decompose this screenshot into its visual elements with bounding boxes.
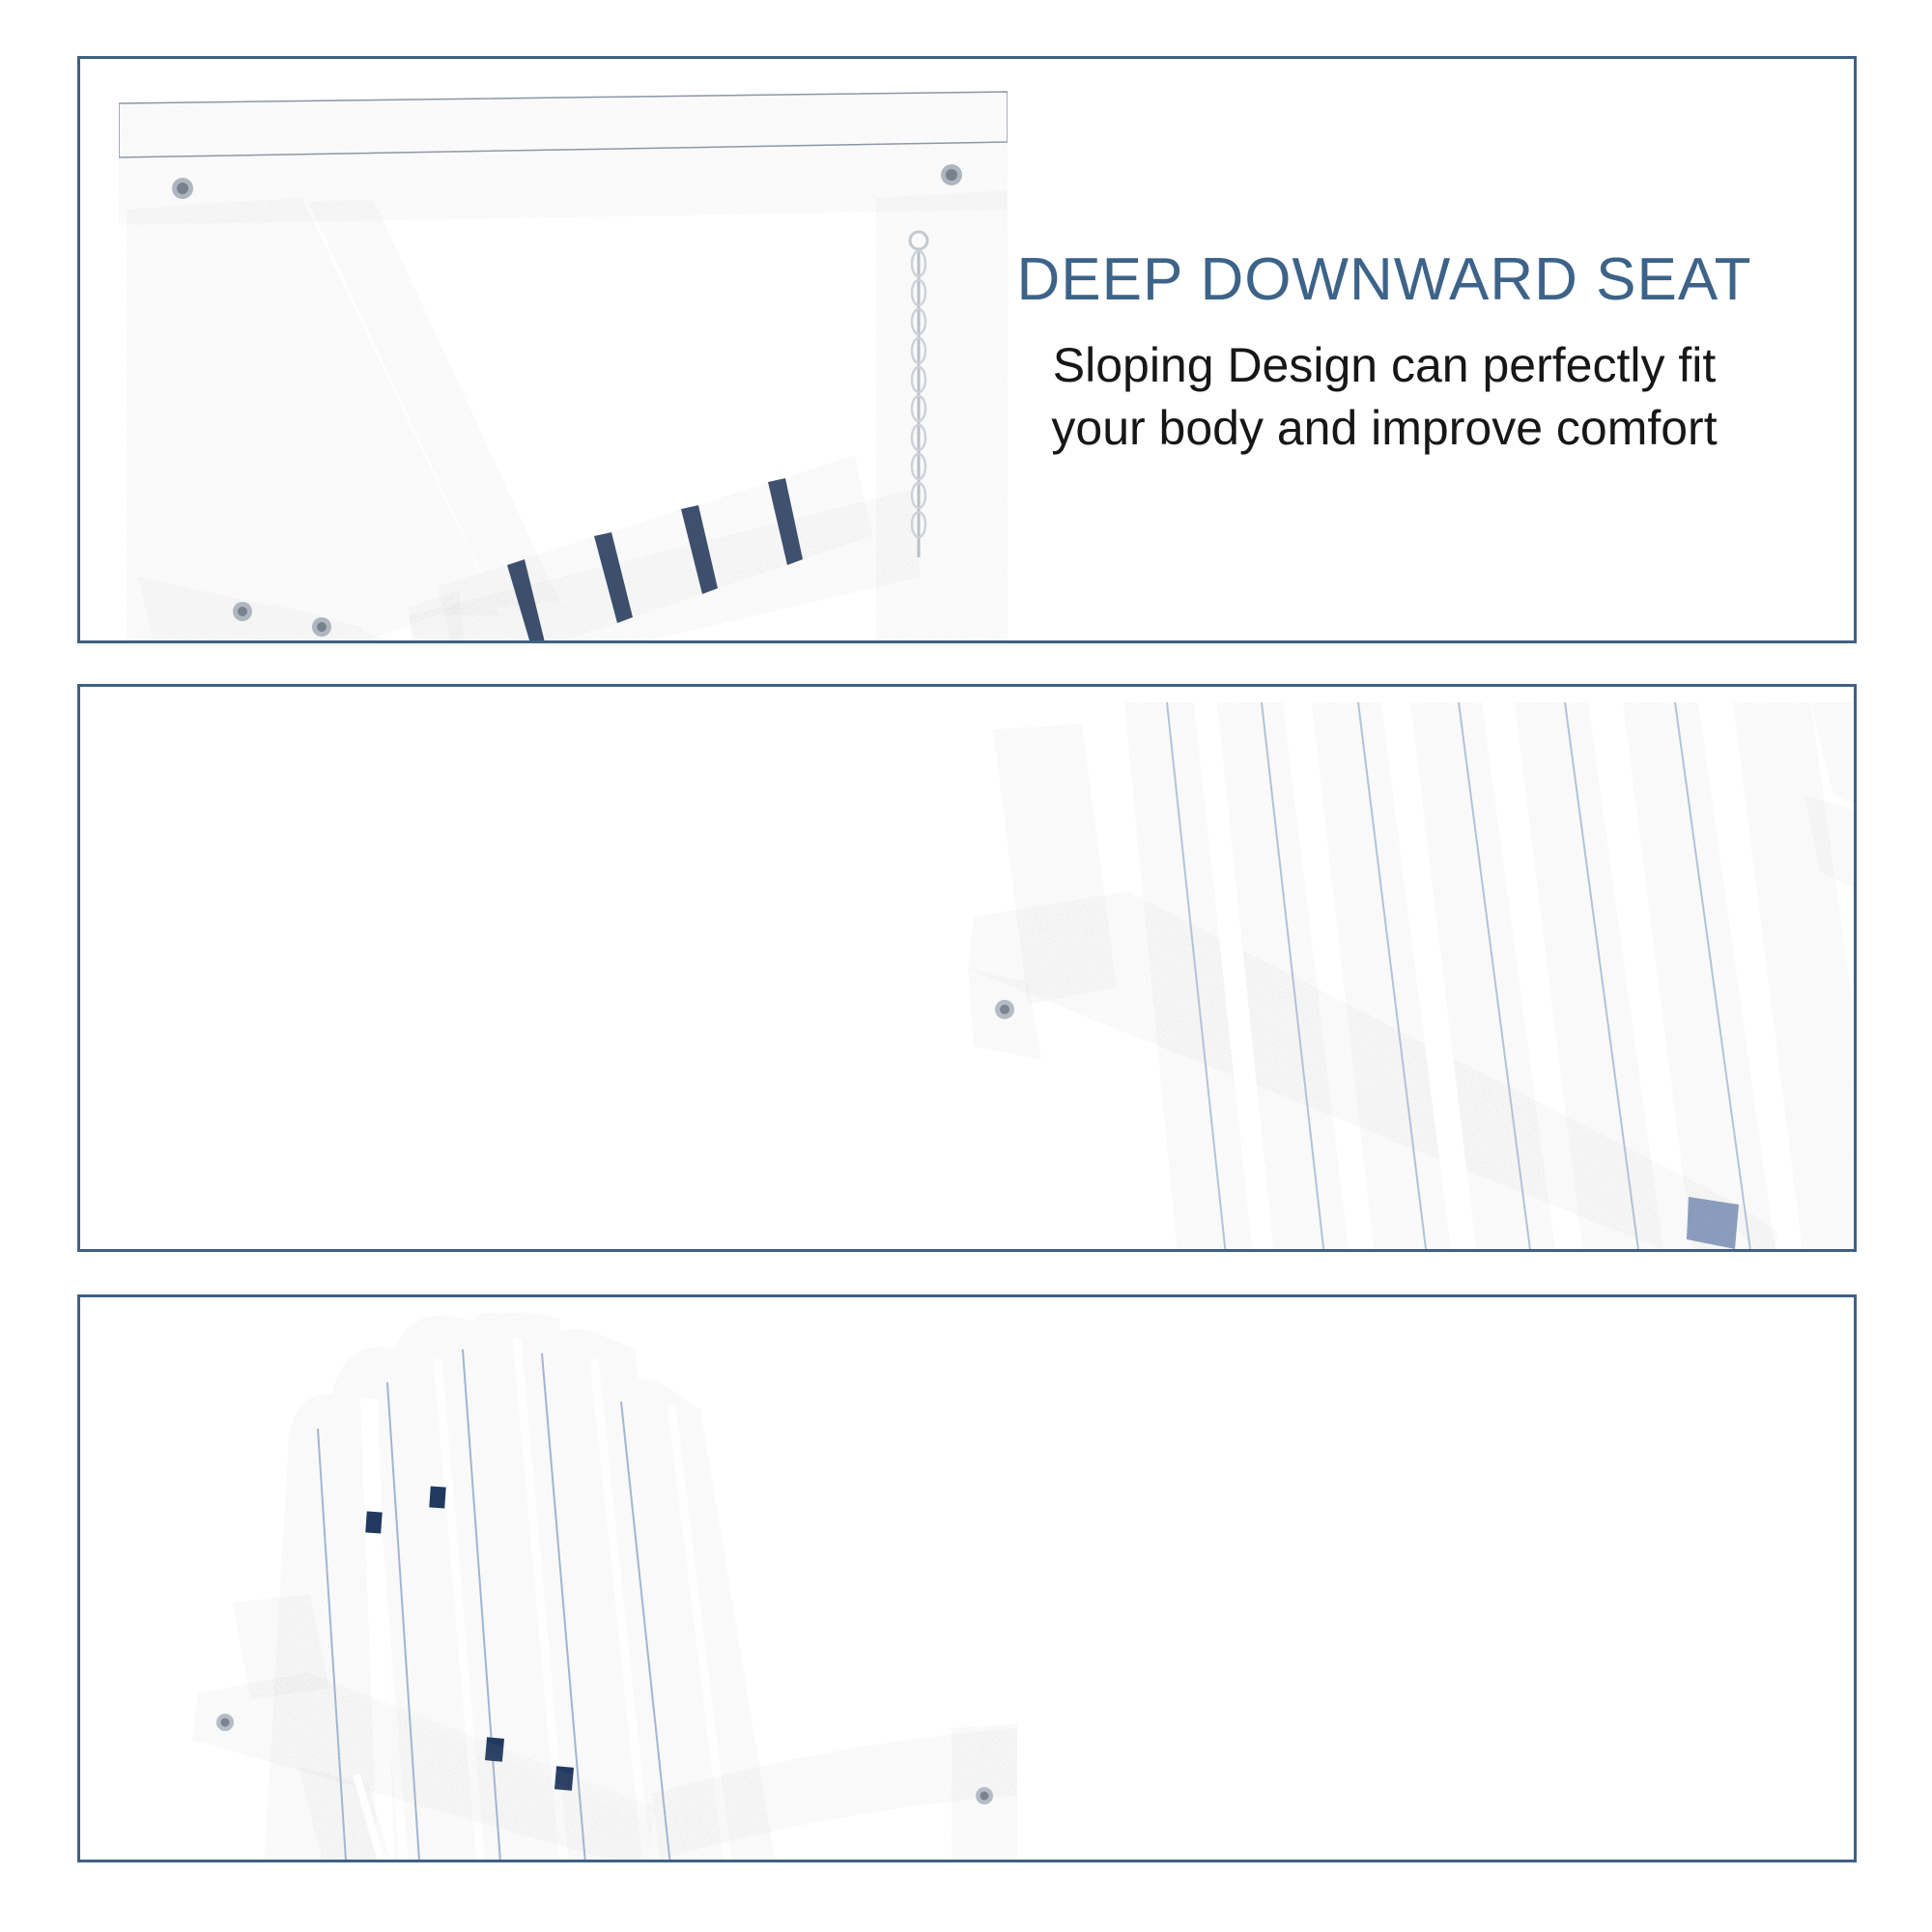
screw-head	[216, 1714, 234, 1731]
chair-seat-photo	[119, 74, 1008, 643]
screw-head	[976, 1787, 993, 1804]
armrest-photo	[935, 702, 1857, 1252]
panel-1-body-line-1: Sloping Design can perfectly fit	[950, 334, 1819, 397]
panel-1-body-line-2: your body and improve comfort	[950, 397, 1819, 460]
backrest-photo	[119, 1313, 1017, 1862]
feature-panel-deep-downward-seat: DEEP DOWNWARD SEAT Sloping Design can pe…	[77, 56, 1857, 643]
panel-1-heading: DEEP DOWNWARD SEAT	[950, 248, 1819, 311]
feature-panel-extra-tall-backrest: EXTRA TALL BACKREST High backrest to giv…	[77, 1294, 1857, 1862]
feature-text-deep-downward-seat: DEEP DOWNWARD SEAT Sloping Design can pe…	[950, 248, 1819, 460]
panel-1-body: Sloping Design can perfectly fit your bo…	[950, 334, 1819, 460]
screw-head	[995, 1000, 1014, 1019]
feature-panel-ergonomic-armrest: ERGONOMIC ARMREST Wide armrests on both …	[77, 684, 1857, 1252]
